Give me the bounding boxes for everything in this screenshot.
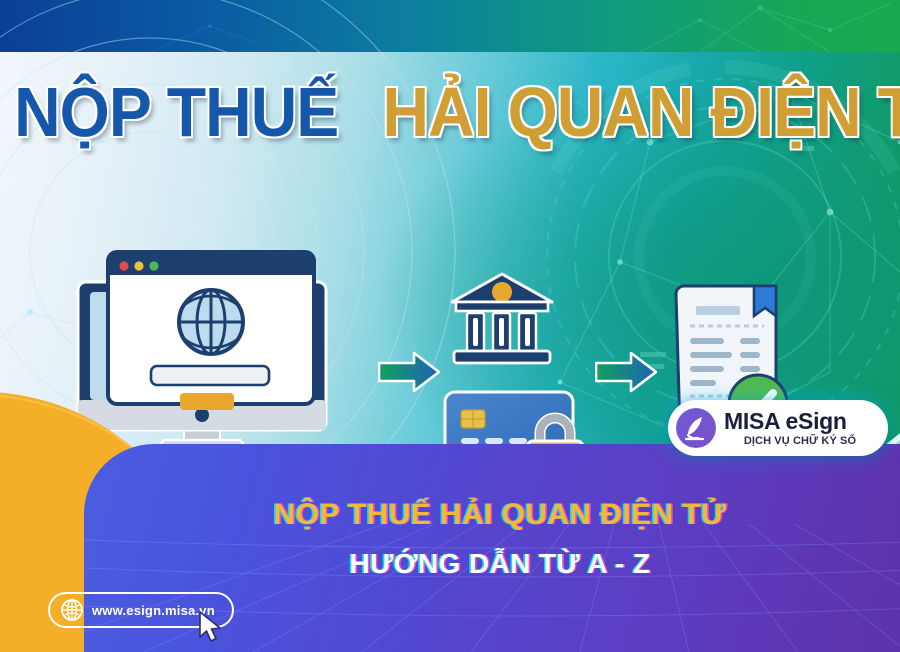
misa-text-block: MISA eSign DỊCH VỤ CHỮ KÝ SỐ (724, 410, 876, 447)
misa-brand-name: MISA eSign (724, 410, 876, 433)
misa-esign-logo[interactable]: MISA eSign DỊCH VỤ CHỮ KÝ SỐ (668, 400, 888, 456)
bottom-subheadline: HƯỚNG DẪN TỪ A - Z (150, 548, 850, 580)
poster-title: NỘP THUẾ HẢI QUAN ĐIỆN TỬ (0, 72, 900, 160)
flow-arrow-1 (378, 350, 440, 394)
screen-search-field[interactable] (151, 366, 269, 385)
flow-arrow-2 (595, 350, 657, 394)
globe-icon (60, 598, 84, 622)
quill-feather-icon (676, 408, 716, 448)
title-part-1: NỘP THUẾ (14, 72, 338, 152)
cursor-arrow-icon (196, 610, 226, 644)
bottom-headline: NỘP THUẾ HẢI QUAN ĐIỆN TỬ (150, 498, 850, 532)
poster-canvas: NỘP THUẾ HẢI QUAN ĐIỆN TỬ (0, 0, 900, 652)
misa-tagline: DỊCH VỤ CHỮ KÝ SỐ (724, 436, 876, 447)
title-part-2: HẢI QUAN ĐIỆN TỬ (382, 72, 900, 152)
bank-building-icon (447, 270, 557, 370)
